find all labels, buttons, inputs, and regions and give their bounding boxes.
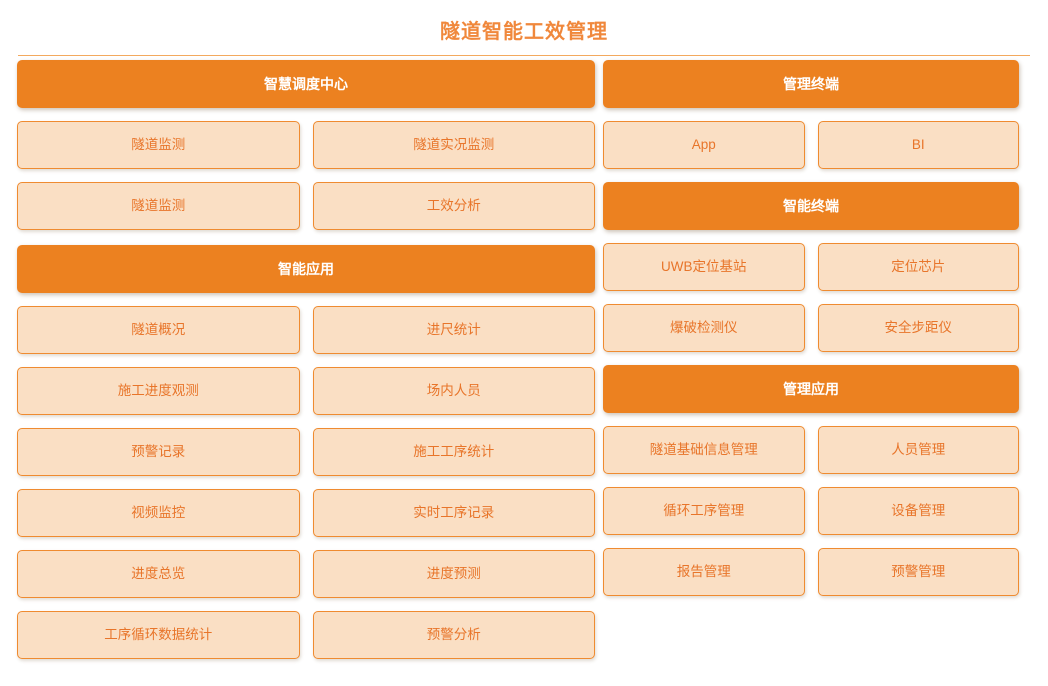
node-video-surveillance[interactable]: 视频监控 — [17, 489, 300, 537]
section-header-smart-application[interactable]: 智能应用 — [17, 245, 595, 293]
node-safety-step-distance-meter[interactable]: 安全步距仪 — [818, 304, 1020, 352]
node-row: 工序循环数据统计 预警分析 — [17, 611, 595, 659]
right-column: 管理终端 App BI 智能终端 UWB定位基站 定位芯片 爆破检测仪 安全步距… — [603, 60, 1019, 609]
node-tunnel-monitoring-2[interactable]: 隧道监测 — [17, 182, 300, 230]
node-row: 预警记录 施工工序统计 — [17, 428, 595, 476]
node-row: App BI — [603, 121, 1019, 169]
node-realtime-process-records[interactable]: 实时工序记录 — [313, 489, 596, 537]
node-row: UWB定位基站 定位芯片 — [603, 243, 1019, 291]
node-personnel-management[interactable]: 人员管理 — [818, 426, 1020, 474]
node-tunnel-basic-info-management[interactable]: 隧道基础信息管理 — [603, 426, 805, 474]
node-row: 视频监控 实时工序记录 — [17, 489, 595, 537]
node-construction-process-statistics[interactable]: 施工工序统计 — [313, 428, 596, 476]
node-row: 隧道监测 工效分析 — [17, 182, 595, 230]
node-tunnel-monitoring-1[interactable]: 隧道监测 — [17, 121, 300, 169]
page-title: 隧道智能工效管理 — [0, 18, 1048, 46]
node-footage-statistics[interactable]: 进尺统计 — [313, 306, 596, 354]
node-process-cycle-data-statistics[interactable]: 工序循环数据统计 — [17, 611, 300, 659]
node-row: 循环工序管理 设备管理 — [603, 487, 1019, 535]
section-header-management-application[interactable]: 管理应用 — [603, 365, 1019, 413]
section-header-row: 智慧调度中心 — [17, 60, 595, 108]
node-uwb-positioning-base-station[interactable]: UWB定位基站 — [603, 243, 805, 291]
title-divider — [18, 55, 1030, 56]
node-cycle-process-management[interactable]: 循环工序管理 — [603, 487, 805, 535]
node-construction-progress-observation[interactable]: 施工进度观测 — [17, 367, 300, 415]
node-row: 隧道概况 进尺统计 — [17, 306, 595, 354]
node-row: 爆破检测仪 安全步距仪 — [603, 304, 1019, 352]
node-report-management[interactable]: 报告管理 — [603, 548, 805, 596]
node-row: 进度总览 进度预测 — [17, 550, 595, 598]
node-alarm-analysis[interactable]: 预警分析 — [313, 611, 596, 659]
left-column: 智慧调度中心 隧道监测 隧道实况监测 隧道监测 工效分析 智能应用 隧道概况 进… — [17, 60, 595, 672]
node-app[interactable]: App — [603, 121, 805, 169]
node-row: 隧道基础信息管理 人员管理 — [603, 426, 1019, 474]
node-efficiency-analysis[interactable]: 工效分析 — [313, 182, 596, 230]
section-header-row: 智能应用 — [17, 245, 595, 293]
node-progress-forecast[interactable]: 进度预测 — [313, 550, 596, 598]
node-bi[interactable]: BI — [818, 121, 1020, 169]
node-row: 隧道监测 隧道实况监测 — [17, 121, 595, 169]
node-onsite-personnel[interactable]: 场内人员 — [313, 367, 596, 415]
node-tunnel-overview[interactable]: 隧道概况 — [17, 306, 300, 354]
node-tunnel-live-monitoring[interactable]: 隧道实况监测 — [313, 121, 596, 169]
node-progress-summary[interactable]: 进度总览 — [17, 550, 300, 598]
section-header-row: 管理应用 — [603, 365, 1019, 413]
node-row: 施工进度观测 场内人员 — [17, 367, 595, 415]
node-blasting-detector[interactable]: 爆破检测仪 — [603, 304, 805, 352]
section-header-management-terminal[interactable]: 管理终端 — [603, 60, 1019, 108]
node-row: 报告管理 预警管理 — [603, 548, 1019, 596]
architecture-board: 智慧调度中心 隧道监测 隧道实况监测 隧道监测 工效分析 智能应用 隧道概况 进… — [0, 60, 1048, 686]
node-positioning-chip[interactable]: 定位芯片 — [818, 243, 1020, 291]
section-header-row: 管理终端 — [603, 60, 1019, 108]
section-header-row: 智能终端 — [603, 182, 1019, 230]
node-equipment-management[interactable]: 设备管理 — [818, 487, 1020, 535]
node-alarm-management[interactable]: 预警管理 — [818, 548, 1020, 596]
section-header-smart-dispatch-center[interactable]: 智慧调度中心 — [17, 60, 595, 108]
section-header-smart-terminal[interactable]: 智能终端 — [603, 182, 1019, 230]
node-alarm-records[interactable]: 预警记录 — [17, 428, 300, 476]
